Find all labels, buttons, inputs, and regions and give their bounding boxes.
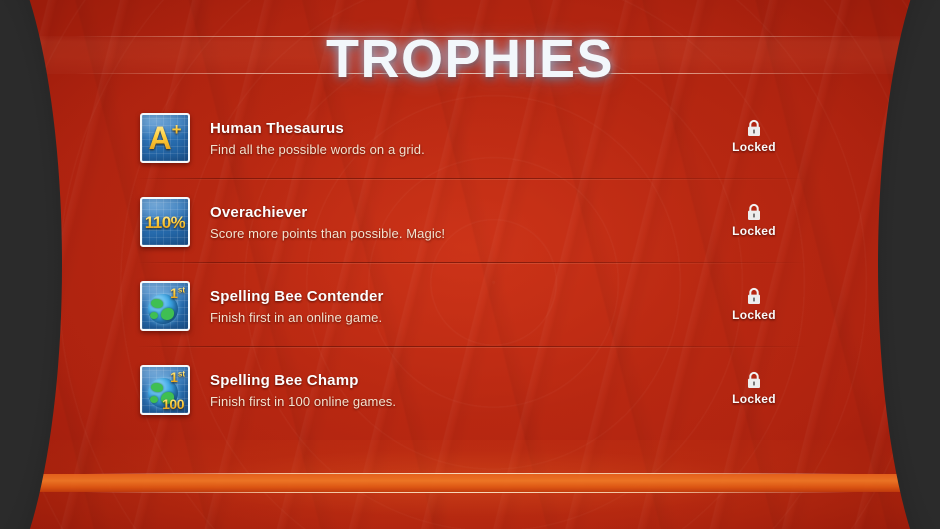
trophy-name: Spelling Bee Champ <box>210 372 706 389</box>
badge-rank-text: 1st <box>170 370 185 384</box>
badge-count-text: 100 <box>162 397 184 411</box>
trophy-name: Overachiever <box>210 204 706 221</box>
trophy-status: Locked <box>706 203 802 242</box>
lock-icon <box>746 203 762 221</box>
trophies-screen: TROPHIES A + Human Thesaurus Find all th… <box>0 0 940 529</box>
trophy-text: Human Thesaurus Find all the possible wo… <box>210 120 706 157</box>
badge-percent-text: 110% <box>145 214 186 231</box>
a-plus-grade-icon: A + <box>140 113 190 163</box>
status-label: Locked <box>706 224 802 238</box>
globe-first-place-icon: 1st <box>140 281 190 331</box>
badge-face: A + <box>142 115 188 161</box>
trophy-text: Overachiever Score more points than poss… <box>210 204 706 241</box>
trophy-name: Human Thesaurus <box>210 120 706 137</box>
trophy-row[interactable]: 1st 100 Spelling Bee Champ Finish first … <box>140 348 802 432</box>
globe-landmass <box>151 383 163 392</box>
badge-rank-text: 1st <box>170 286 185 300</box>
globe-landmass <box>150 312 158 319</box>
one-hundred-ten-percent-icon: 110% <box>140 197 190 247</box>
bottom-accent-band <box>0 474 940 492</box>
trophy-name: Spelling Bee Contender <box>210 288 706 305</box>
lock-icon <box>746 287 762 305</box>
status-label: Locked <box>706 392 802 406</box>
status-label: Locked <box>706 308 802 322</box>
lock-icon <box>746 371 762 389</box>
trophy-row[interactable]: 1st Spelling Bee Contender Finish first … <box>140 264 802 348</box>
trophy-description: Score more points than possible. Magic! <box>210 226 706 241</box>
lock-icon <box>746 119 762 137</box>
globe-landmass <box>151 299 163 308</box>
trophy-description: Finish first in an online game. <box>210 310 706 325</box>
trophy-description: Find all the possible words on a grid. <box>210 142 706 157</box>
badge-face: 110% <box>142 199 188 245</box>
trophy-text: Spelling Bee Champ Finish first in 100 o… <box>210 372 706 409</box>
trophy-list: A + Human Thesaurus Find all the possibl… <box>140 96 802 432</box>
bottom-glow <box>0 440 940 529</box>
page-title: TROPHIES <box>0 28 940 90</box>
globe-landmass <box>161 308 174 320</box>
trophy-row[interactable]: 110% Overachiever Score more points than… <box>140 180 802 264</box>
trophy-description: Finish first in 100 online games. <box>210 394 706 409</box>
globe-first-place-hundred-icon: 1st 100 <box>140 365 190 415</box>
globe-landmass <box>150 396 158 403</box>
trophy-row[interactable]: A + Human Thesaurus Find all the possibl… <box>140 96 802 180</box>
status-label: Locked <box>706 140 802 154</box>
badge-plus-sign: + <box>172 121 182 138</box>
trophy-status: Locked <box>706 287 802 326</box>
trophy-text: Spelling Bee Contender Finish first in a… <box>210 288 706 325</box>
trophy-status: Locked <box>706 371 802 410</box>
badge-letter-a: A <box>148 122 170 154</box>
trophy-status: Locked <box>706 119 802 158</box>
